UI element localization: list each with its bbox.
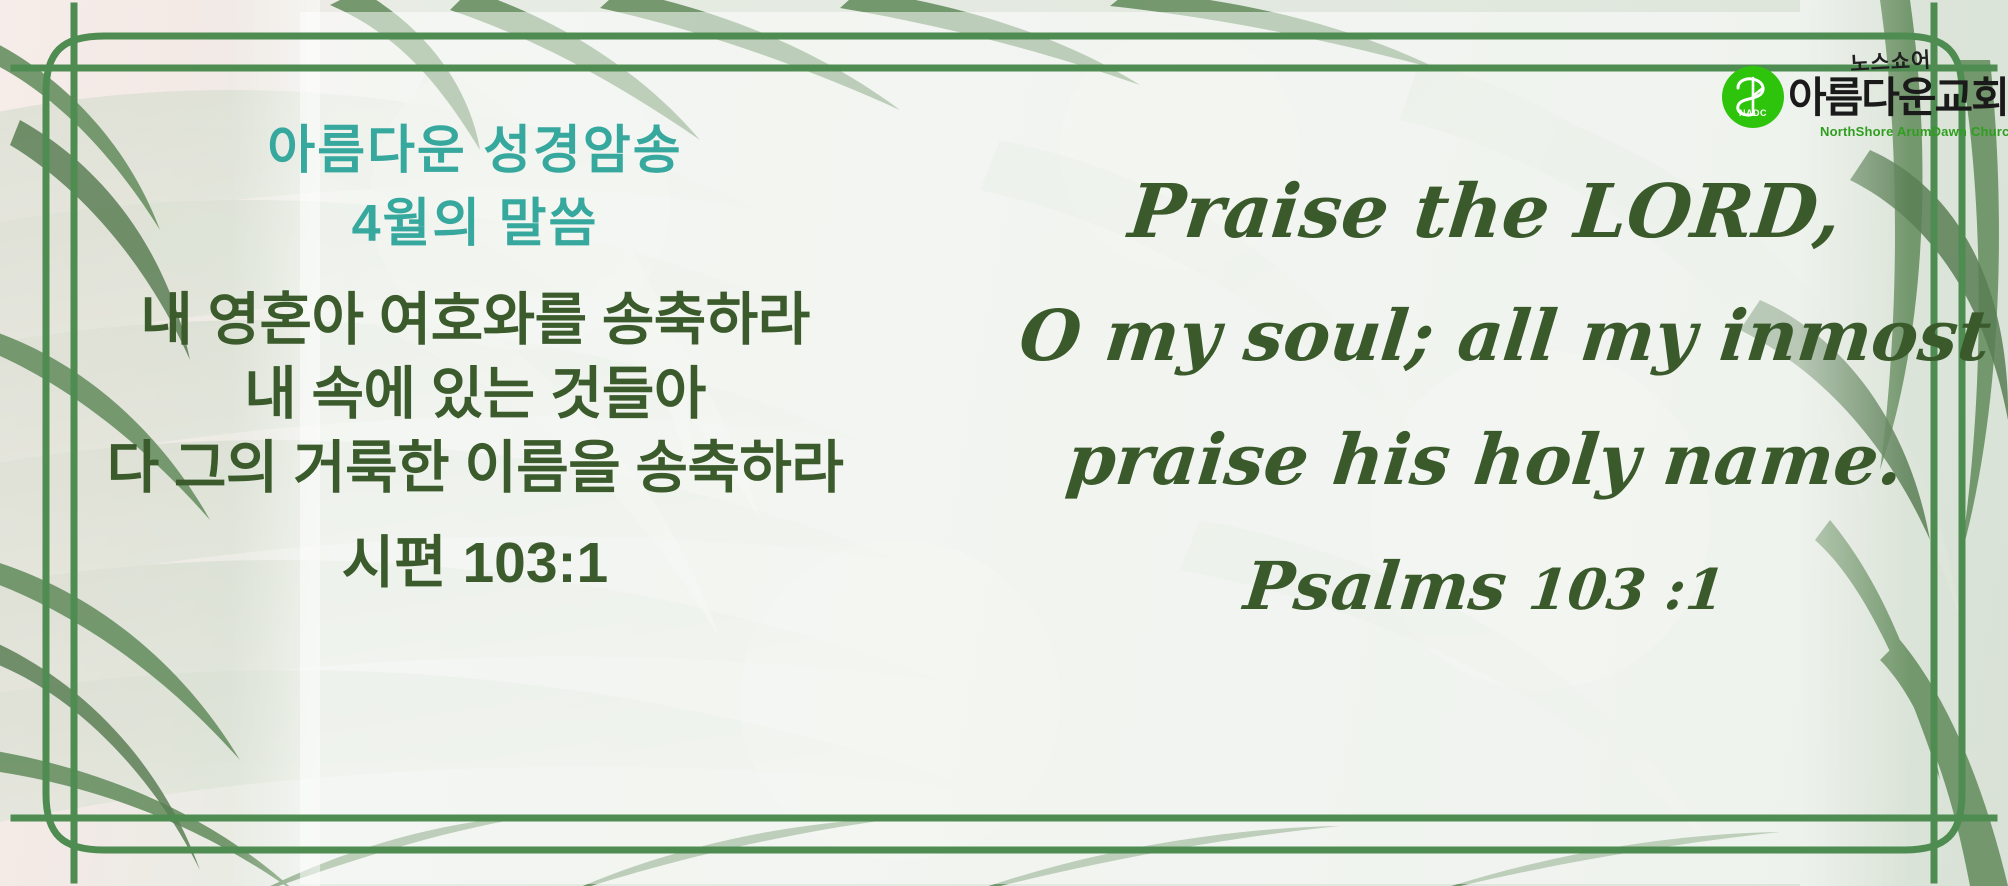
english-verse-line-1: Praise the LORD, bbox=[1016, 175, 1954, 249]
korean-text-block: 아름다운 성경암송 4월의 말씀 내 영혼아 여호와를 송축하라 내 속에 있는… bbox=[60, 120, 890, 599]
korean-verse-line-1: 내 영혼아 여호와를 송축하라 bbox=[60, 283, 890, 357]
logo-english-name: NorthShore ArumDawn Church bbox=[1820, 124, 2008, 139]
korean-verse-reference: 시편 103:1 bbox=[60, 517, 890, 599]
logo-monogram-text: NADC bbox=[1722, 108, 1784, 118]
english-verse-line-3: praise his holy name. bbox=[1016, 425, 1953, 495]
korean-verse: 내 영혼아 여호와를 송축하라 내 속에 있는 것들아 다 그의 거룩한 이름을… bbox=[60, 283, 890, 505]
korean-verse-line-2: 내 속에 있는 것들아 bbox=[60, 357, 890, 431]
korean-kicker-line2: 4월의 말씀 bbox=[60, 193, 890, 256]
english-verse-line-2: O my soul; all my inmost being, bbox=[1016, 301, 1953, 371]
korean-verse-line-3: 다 그의 거룩한 이름을 송축하라 bbox=[60, 431, 890, 505]
church-logo[interactable]: NADC 노스쇼어 아름다운교회 NorthShore ArumDawn Chu… bbox=[1722, 48, 1972, 146]
bible-memory-verse-banner: 아름다운 성경암송 4월의 말씀 내 영혼아 여호와를 송축하라 내 속에 있는… bbox=[0, 0, 2008, 886]
english-reference-book: Psalms bbox=[1241, 547, 1511, 625]
english-reference-number: 103 :1 bbox=[1525, 557, 1728, 623]
logo-korean-main: 아름다운교회 bbox=[1788, 64, 2008, 125]
korean-kicker-line1: 아름다운 성경암송 bbox=[60, 120, 890, 183]
nadc-monogram-icon bbox=[1722, 66, 1784, 128]
english-verse-reference: Psalms 103 :1 bbox=[1017, 553, 1954, 619]
english-text-block: Praise the LORD, O my soul; all my inmos… bbox=[1020, 175, 1950, 619]
